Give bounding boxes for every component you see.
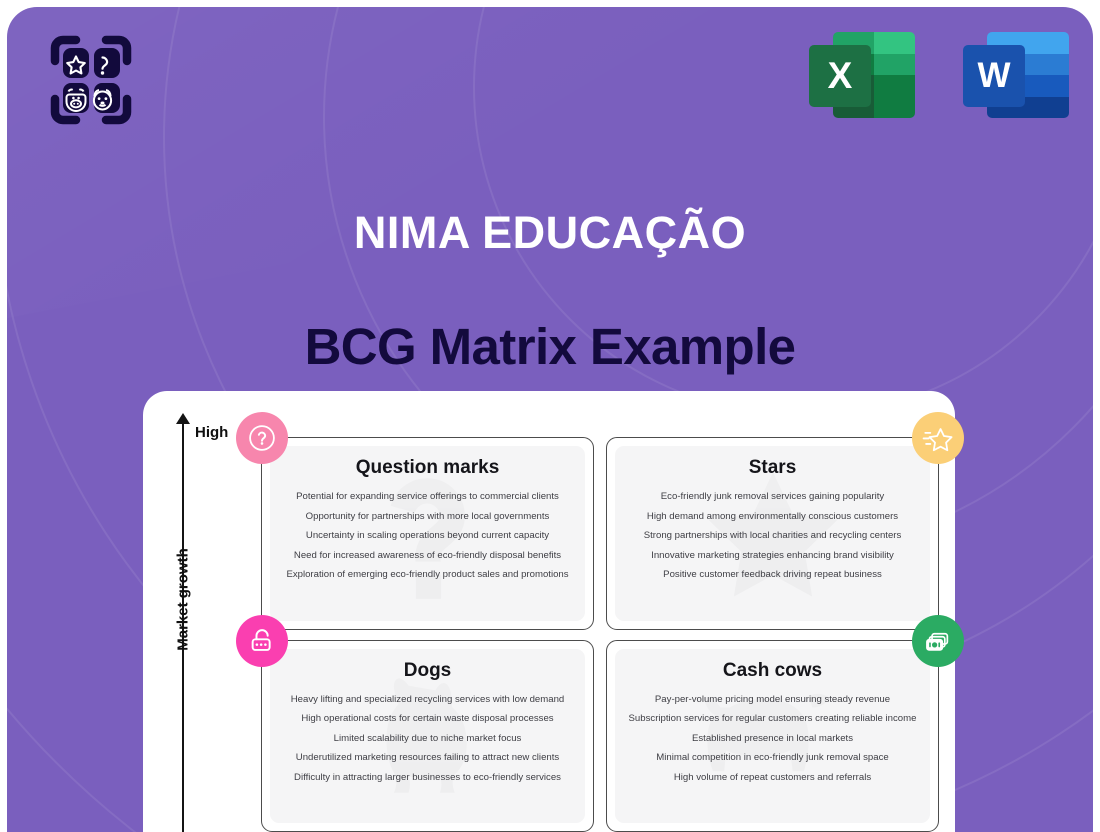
quadrant-title: Cash cows <box>723 660 822 682</box>
list-item: Uncertainty in scaling operations beyond… <box>270 526 585 546</box>
quadrant-items: Eco-friendly junk removal services gaini… <box>615 487 930 585</box>
list-item: Strong partnerships with local charities… <box>615 526 930 546</box>
excel-letter: X <box>809 45 871 107</box>
slide-canvas: X W NIMA EDUCAÇÃO BCG Matrix Example Hig… <box>0 0 1100 832</box>
list-item: Need for increased awareness of eco-frie… <box>270 546 585 566</box>
page-title: BCG Matrix Example <box>0 317 1100 376</box>
list-item: Potential for expanding service offering… <box>270 487 585 507</box>
question-mark-circle-icon <box>236 412 288 464</box>
quadrant-title: Dogs <box>404 660 452 682</box>
quadrant-body: Question marks Potential for expanding s… <box>270 446 585 621</box>
list-item: Exploration of emerging eco-friendly pro… <box>270 565 585 585</box>
list-item: Difficulty in attracting larger business… <box>270 768 585 788</box>
quadrant-stars[interactable]: Stars Eco-friendly junk removal services… <box>606 437 939 630</box>
quadrant-items: Heavy lifting and specialized recycling … <box>270 690 585 788</box>
quadrant-body: Dogs Heavy lifting and specialized recyc… <box>270 649 585 824</box>
list-item: Opportunity for partnerships with more l… <box>270 507 585 527</box>
word-letter: W <box>963 45 1025 107</box>
quadrant-dogs[interactable]: Dogs Heavy lifting and specialized recyc… <box>261 640 594 832</box>
quadrant-grid: Question marks Potential for expanding s… <box>261 437 939 832</box>
list-item: Innovative marketing strategies enhancin… <box>615 546 930 566</box>
y-axis-high-label: High <box>195 424 228 441</box>
microsoft-excel-icon: X <box>809 25 915 125</box>
quadrant-body: Cash cows Pay-per-volume pricing model e… <box>615 649 930 824</box>
quadrant-items: Pay-per-volume pricing model ensuring st… <box>615 690 930 788</box>
quadrant-title: Stars <box>749 457 797 479</box>
list-item: Pay-per-volume pricing model ensuring st… <box>615 690 930 710</box>
list-item: Heavy lifting and specialized recycling … <box>270 690 585 710</box>
list-item: Eco-friendly junk removal services gaini… <box>615 487 930 507</box>
list-item: Established presence in local markets <box>615 729 930 749</box>
quadrant-cash-cows[interactable]: Cash cows Pay-per-volume pricing model e… <box>606 640 939 832</box>
quadrant-question-marks[interactable]: Question marks Potential for expanding s… <box>261 437 594 630</box>
bcg-matrix-panel: High Market growth <box>143 391 955 832</box>
office-icon-group: X W <box>809 25 1069 125</box>
quadrant-body: Stars Eco-friendly junk removal services… <box>615 446 930 621</box>
quadrant-title: Question marks <box>356 457 500 479</box>
y-axis-title: Market growth <box>175 535 192 665</box>
organization-title: NIMA EDUCAÇÃO <box>0 207 1100 259</box>
list-item: High demand among environmentally consci… <box>615 507 930 527</box>
microsoft-word-icon: W <box>963 25 1069 125</box>
open-padlock-icon <box>236 615 288 667</box>
banknotes-icon <box>912 615 964 667</box>
quadrant-items: Potential for expanding service offering… <box>270 487 585 585</box>
list-item: High operational costs for certain waste… <box>270 709 585 729</box>
list-item: Underutilized marketing resources failin… <box>270 748 585 768</box>
list-item: High volume of repeat customers and refe… <box>615 768 930 788</box>
list-item: Subscription services for regular custom… <box>615 709 930 729</box>
shooting-star-icon <box>912 412 964 464</box>
list-item: Limited scalability due to niche market … <box>270 729 585 749</box>
list-item: Minimal competition in eco-friendly junk… <box>615 748 930 768</box>
list-item: Positive customer feedback driving repea… <box>615 565 930 585</box>
bcg-matrix-logo-icon <box>46 31 158 129</box>
